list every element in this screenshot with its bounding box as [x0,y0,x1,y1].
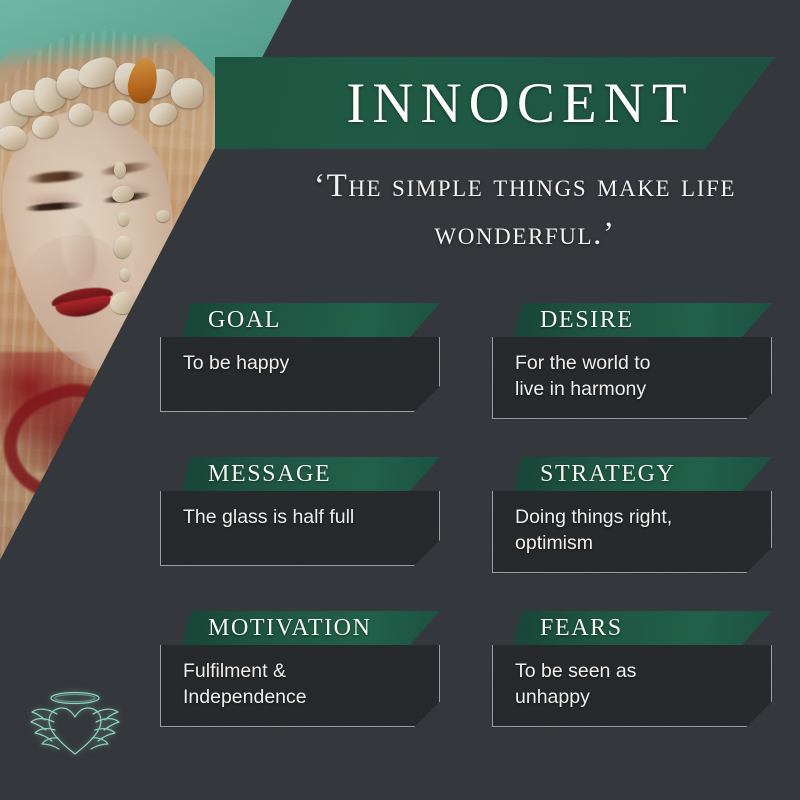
card-body-text: Fulfilment & Independence [161,645,439,726]
card-header-strategy: STRATEGY [514,457,772,491]
card-body-text: For the world to live in harmony [493,337,771,418]
card-header-fears: FEARS [514,611,772,645]
card-body-motivation: Fulfilment & Independence [160,645,440,727]
card-body-message: The glass is half full [160,491,440,566]
card-message: MESSAGE The glass is half full [160,457,440,566]
card-header-label: MESSAGE [182,461,331,488]
card-header-label: FEARS [514,615,623,642]
left-wing-icon [31,709,59,749]
card-fears: FEARS To be seen as unhappy [492,611,772,727]
winged-heart-halo-logo [27,684,123,762]
card-strategy: STRATEGY Doing things right, optimism [492,457,772,573]
card-header-message: MESSAGE [182,457,440,491]
card-header-desire: DESIRE [514,303,772,337]
card-header-label: GOAL [182,307,281,334]
infographic-canvas: INNOCENT ‘The simple things make life wo… [0,0,800,800]
card-header-label: DESIRE [514,307,634,334]
card-body-text: Doing things right, optimism [493,491,771,572]
right-wing-icon [91,709,119,749]
card-body-text: To be seen as unhappy [493,645,771,726]
card-header-label: MOTIVATION [182,615,372,642]
card-body-goal: To be happy [160,337,440,412]
card-body-text: The glass is half full [161,491,439,547]
card-motivation: MOTIVATION Fulfilment & Independence [160,611,440,727]
card-desire: DESIRE For the world to live in harmony [492,303,772,419]
card-header-goal: GOAL [182,303,440,337]
card-body-text: To be happy [161,337,439,393]
card-body-desire: For the world to live in harmony [492,337,772,419]
card-goal: GOAL To be happy [160,303,440,412]
card-header-label: STRATEGY [514,461,675,488]
card-header-motivation: MOTIVATION [182,611,440,645]
archetype-quote: ‘The simple things make life wonderful.’ [300,163,750,258]
page-title: INNOCENT [300,58,740,148]
card-body-strategy: Doing things right, optimism [492,491,772,573]
card-body-fears: To be seen as unhappy [492,645,772,727]
